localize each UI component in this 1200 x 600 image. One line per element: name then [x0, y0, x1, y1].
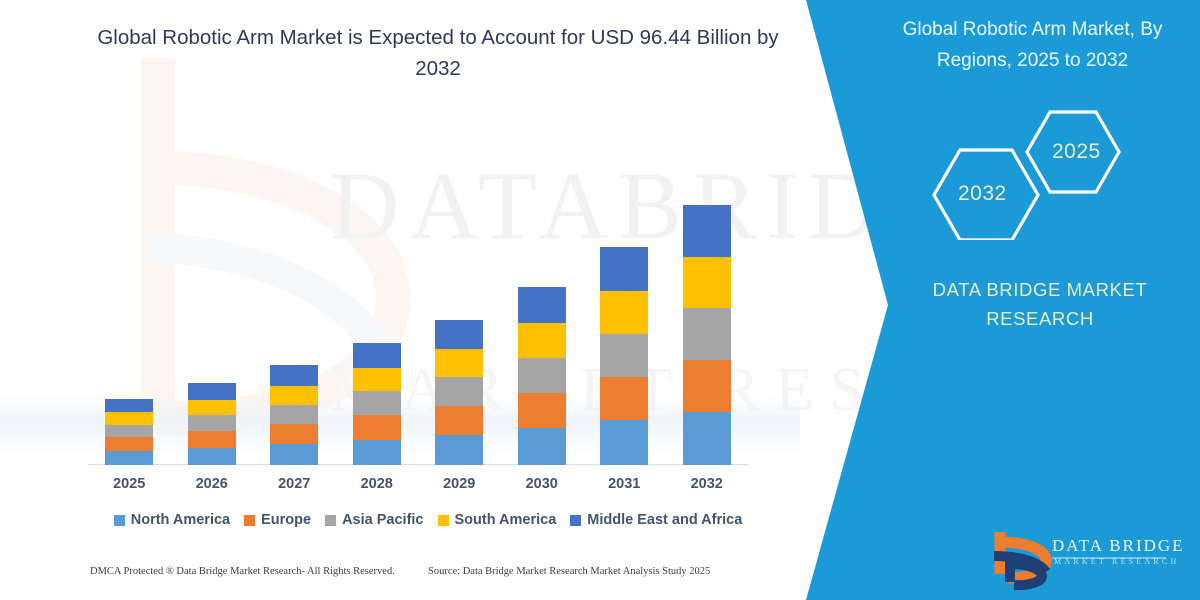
- hexagon-label-2025: 2025: [1052, 140, 1101, 164]
- hexagon-outline-icon: [900, 100, 1170, 240]
- side-panel-brand: DATA BRIDGE MARKET RESEARCH: [900, 275, 1180, 333]
- infographic-canvas: DATABRIDGE MARKET RESEARCH Global Roboti…: [0, 0, 1200, 600]
- hexagon-group: 2025 2032: [900, 100, 1170, 240]
- logo-wordmark: DATA BRIDGE: [1052, 536, 1185, 556]
- side-panel-title: Global Robotic Arm Market, By Regions, 2…: [880, 14, 1185, 76]
- hexagon-label-2032: 2032: [958, 182, 1007, 206]
- logo-tagline: MARKET RESEARCH: [1054, 557, 1179, 566]
